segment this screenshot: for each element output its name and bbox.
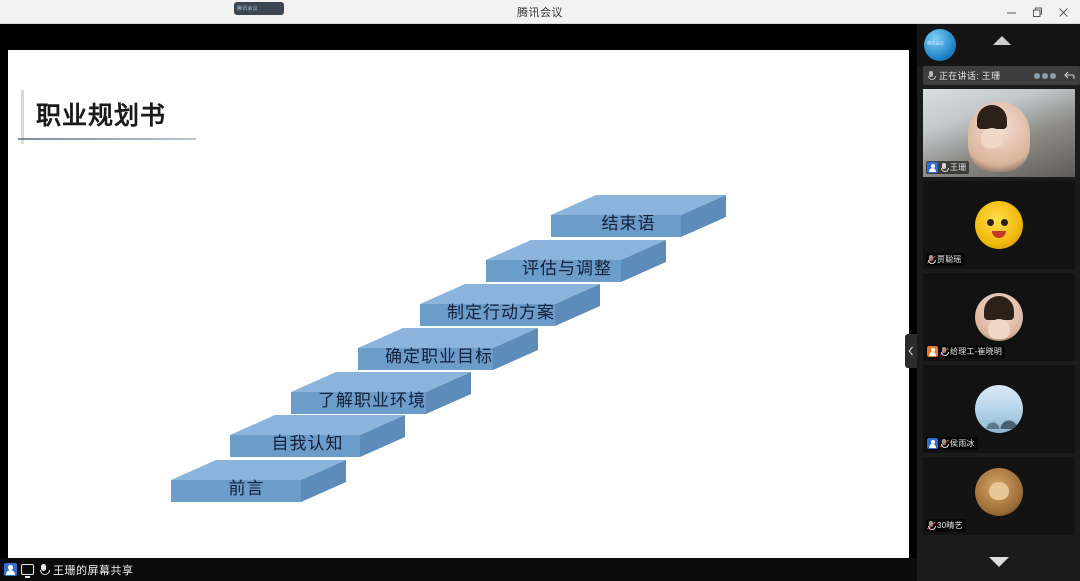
panel-header: 腾讯会议	[917, 24, 1080, 66]
avatar	[975, 293, 1023, 341]
person-icon	[4, 563, 17, 576]
screen-share-icon	[21, 564, 34, 575]
active-speaker-label: 正在讲话: 王珊	[939, 69, 1000, 82]
microphone-muted-icon	[940, 439, 948, 449]
microphone-icon	[927, 71, 935, 81]
maximize-restore-button[interactable]	[1024, 1, 1050, 23]
avatar	[975, 201, 1023, 249]
person-icon	[927, 438, 938, 449]
microphone-icon	[940, 163, 948, 173]
person-icon	[927, 162, 938, 173]
avatar	[975, 385, 1023, 433]
collapse-panel-button[interactable]	[905, 334, 917, 368]
participant-tile[interactable]: 侯雨冰	[923, 365, 1075, 453]
participant-name: 王珊	[950, 162, 966, 173]
participant-name-badge: 侯雨冰	[926, 437, 978, 450]
participant-name-badge: 王珊	[926, 161, 969, 174]
microphone-icon	[38, 563, 49, 576]
participant-name: 给理工-崔晓明	[950, 346, 1002, 357]
avatar	[968, 102, 1030, 172]
window-title: 腾讯会议	[0, 0, 1080, 24]
participant-tile[interactable]: 贾聪瑶	[923, 181, 1075, 269]
scroll-up-icon[interactable]	[993, 36, 1011, 45]
microphone-muted-icon	[927, 255, 935, 265]
participant-tile[interactable]: 给理工-崔晓明	[923, 273, 1075, 361]
participant-name-badge: 贾聪瑶	[926, 253, 965, 266]
participant-name: 30晴艺	[937, 520, 963, 531]
app-logo-icon: 腾讯会议	[924, 29, 956, 61]
shared-screen-stage: 职业规划书 前言 自我认知	[0, 24, 917, 581]
minimize-button[interactable]	[998, 1, 1024, 23]
microphone-muted-icon	[927, 521, 935, 531]
participant-name: 侯雨冰	[950, 438, 975, 449]
audio-level-icon	[1034, 73, 1056, 79]
staircase-step: 结束语	[551, 195, 726, 251]
presentation-slide: 职业规划书 前言 自我认知	[8, 50, 909, 558]
scroll-down-icon[interactable]	[989, 557, 1009, 567]
window-controls	[998, 0, 1076, 24]
return-icon[interactable]	[1063, 69, 1076, 82]
avatar	[975, 468, 1023, 516]
host-icon	[927, 346, 938, 357]
screen-share-label: 王珊的屏幕共享	[53, 562, 134, 578]
close-button[interactable]	[1050, 1, 1076, 23]
staircase-diagram: 前言 自我认知 了解职业环境	[8, 50, 909, 558]
participant-name: 贾聪瑶	[937, 254, 962, 265]
participant-name-badge: 给理工-崔晓明	[926, 345, 1005, 358]
active-speaker-banner: 正在讲话: 王珊	[923, 66, 1080, 85]
participants-panel: 腾讯会议 正在讲话: 王珊 王珊	[917, 24, 1080, 581]
participant-tile-list: 王珊 贾聪瑶 给理工-崔晓明	[923, 89, 1075, 554]
microphone-muted-icon	[940, 347, 948, 357]
participant-tile[interactable]: 30晴艺	[923, 457, 1075, 535]
app-logo-label: 腾讯会议	[927, 40, 944, 46]
participant-name-badge: 30晴艺	[926, 519, 966, 532]
window-title-bar: 腾讯会议 腾讯会议	[0, 0, 1080, 24]
screen-share-status-bar: 王珊的屏幕共享	[0, 558, 917, 581]
participant-tile[interactable]: 王珊	[923, 89, 1075, 177]
